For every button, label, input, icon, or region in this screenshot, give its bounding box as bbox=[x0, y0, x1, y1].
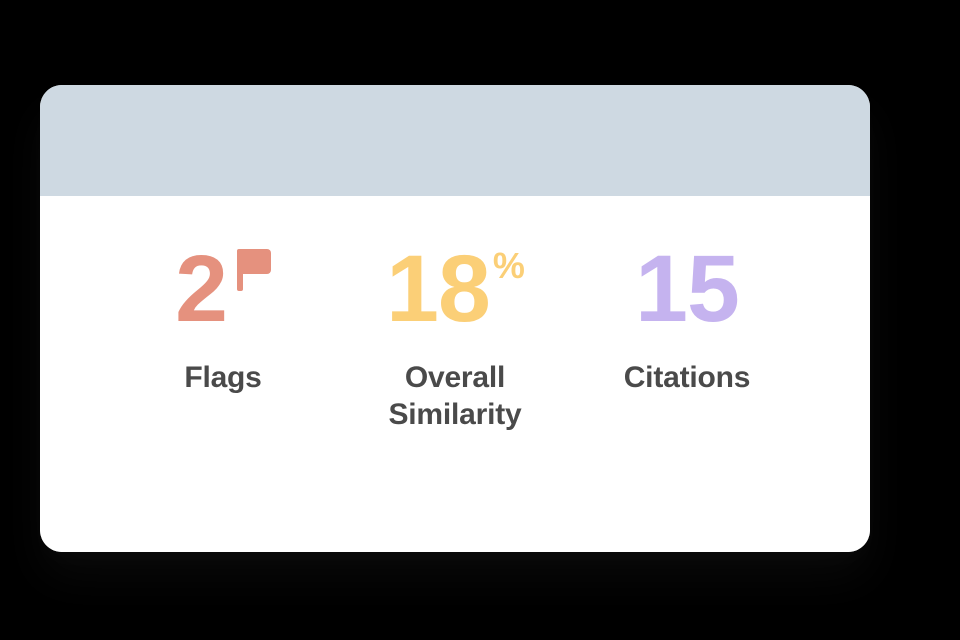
stat-flags[interactable]: 2 Flags bbox=[107, 242, 339, 397]
stat-citations-label: Citations bbox=[624, 360, 751, 397]
card-header-band bbox=[40, 85, 870, 196]
stat-overall-similarity[interactable]: 18 % Overall Similarity bbox=[339, 242, 571, 433]
stat-flags-value-group: 2 bbox=[175, 242, 271, 338]
flag-banner bbox=[237, 249, 271, 274]
stat-similarity-value: 18 bbox=[386, 242, 490, 337]
stat-flags-label: Flags bbox=[184, 360, 261, 397]
page-root: 2 Flags 18 % Overall Similarity bbox=[0, 0, 960, 640]
card-body: 2 Flags 18 % Overall Similarity bbox=[40, 196, 870, 552]
stat-flags-value: 2 bbox=[175, 242, 227, 337]
stat-citations-value-group: 15 bbox=[635, 242, 739, 338]
similarity-report-card: 2 Flags 18 % Overall Similarity bbox=[40, 85, 870, 552]
stat-similarity-value-group: 18 % bbox=[386, 242, 524, 338]
flag-icon bbox=[231, 249, 271, 291]
stat-similarity-label: Overall Similarity bbox=[350, 360, 560, 433]
stat-citations-value: 15 bbox=[635, 242, 739, 337]
percent-sign: % bbox=[493, 248, 524, 284]
stat-citations[interactable]: 15 Citations bbox=[571, 242, 803, 397]
stats-row: 2 Flags 18 % Overall Similarity bbox=[107, 242, 803, 433]
